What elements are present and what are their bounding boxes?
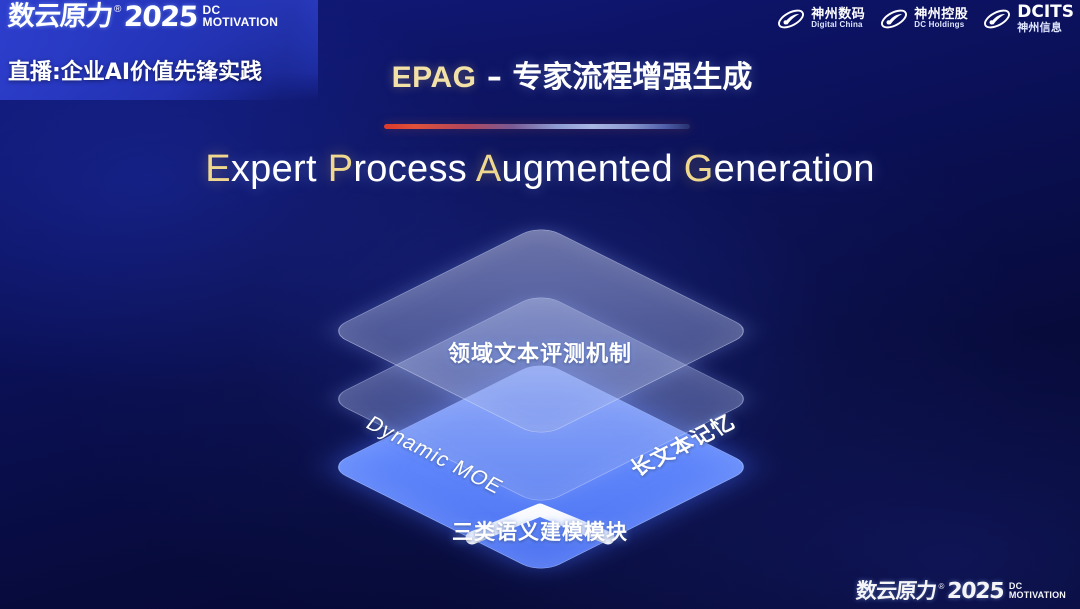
word-body: xpert xyxy=(231,148,317,190)
swirl-logo-icon xyxy=(982,6,1012,32)
word-initial: A xyxy=(476,148,502,190)
brand-motivation-label: MOTIVATION xyxy=(1009,591,1066,600)
word-body: eneration xyxy=(714,148,875,190)
word-initial: E xyxy=(205,148,231,190)
word-generation: Generation xyxy=(684,148,875,190)
partner-logo-text: DCITS 神州信息 xyxy=(1017,4,1074,33)
partner-name-cn: DCITS xyxy=(1017,4,1074,22)
brand-name-cn: 数云原力 xyxy=(856,581,938,602)
word-expert: Expert xyxy=(205,148,317,190)
partner-logo-row: 神州数码 Digital China 神州控股 DC Holdings xyxy=(776,4,1074,33)
partner-logo-digital-china: 神州数码 Digital China xyxy=(776,6,865,32)
diagram-label-top: 领域文本评测机制 xyxy=(290,336,790,368)
partner-name-en: 神州信息 xyxy=(1017,22,1074,34)
diagram-label-bottom: 三类语义建模模块 xyxy=(290,516,790,546)
partner-logo-dc-holdings: 神州控股 DC Holdings xyxy=(879,6,968,32)
word-initial: G xyxy=(684,148,714,190)
partner-name-en: Digital China xyxy=(811,21,865,29)
brand-name-cn: 数云原力 xyxy=(7,3,113,30)
partner-logo-text: 神州控股 DC Holdings xyxy=(914,8,968,30)
registered-mark-icon: ® xyxy=(938,583,944,591)
layered-architecture-diagram: 领域文本评测机制 Dynamic MOE 长文本记忆 三类语义建模模块 xyxy=(290,228,790,568)
live-broadcast-label: 直播:企业AI价值先锋实践 xyxy=(8,54,262,86)
word-body: ugmented xyxy=(502,148,673,190)
brand-dc-motivation: DC MOTIVATION xyxy=(1009,582,1066,600)
brand-logo: 数云原力 ® 2025 DC MOTIVATION xyxy=(8,3,278,31)
title-divider xyxy=(384,124,690,129)
partner-name-cn: 神州数码 xyxy=(811,8,865,22)
partner-name-cn: 神州控股 xyxy=(914,8,968,22)
swirl-logo-icon xyxy=(776,6,806,32)
presentation-slide: 数云原力 ® 2025 DC MOTIVATION 直播:企业AI价值先锋实践 … xyxy=(0,0,1080,609)
registered-mark-icon: ® xyxy=(114,5,121,15)
slide-title-subtitle-cn: – 专家流程增强生成 xyxy=(476,60,752,95)
partner-logo-dcits: DCITS 神州信息 xyxy=(982,4,1074,33)
word-initial: P xyxy=(328,148,354,190)
brand-dc-motivation: DC MOTIVATION xyxy=(203,4,279,28)
partner-logo-text: 神州数码 Digital China xyxy=(811,8,865,30)
brand-year: 2025 xyxy=(123,3,198,31)
brand-motivation-label: MOTIVATION xyxy=(203,16,279,28)
partner-name-en: DC Holdings xyxy=(914,21,968,29)
footer-brand-logo: 数云原力 ® 2025 DC MOTIVATION xyxy=(856,581,1066,603)
slide-title-acronym: EPAG xyxy=(392,61,477,94)
word-process: Process xyxy=(328,148,467,190)
slide-title-en: Expert Process Augmented Generation xyxy=(0,148,1080,191)
word-body: rocess xyxy=(353,148,467,190)
word-augmented: Augmented xyxy=(476,148,673,190)
swirl-logo-icon xyxy=(879,6,909,32)
brand-year: 2025 xyxy=(947,581,1005,603)
